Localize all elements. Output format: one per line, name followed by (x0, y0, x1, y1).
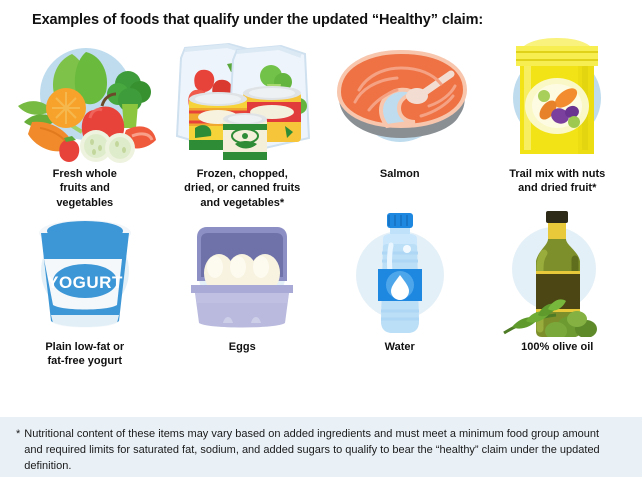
food-cell-water: Water (321, 210, 479, 368)
food-examples-grid: Fresh whole fruits and vegetables (0, 29, 642, 477)
food-row-2: YOGURT Plain low-fat or fat-free yogurt (6, 210, 636, 368)
food-cell-olive-oil: 100% olive oil (479, 210, 637, 368)
food-caption: Frozen, chopped, dried, or canned fruits… (184, 167, 300, 209)
fresh-fruits-vegetables-icon (6, 35, 164, 165)
frozen-canned-fruits-vegetables-icon (164, 35, 322, 165)
eggs-illustration (167, 211, 317, 337)
footnote-text: Nutritional content of these items may v… (24, 427, 620, 475)
yogurt-label-text: YOGURT (47, 273, 123, 292)
fresh-produce-illustration (10, 36, 160, 164)
frozen-canned-illustration (167, 36, 317, 164)
yogurt-tub-icon: YOGURT (6, 210, 164, 338)
footnote-marker: * (16, 427, 20, 443)
food-row-1: Fresh whole fruits and vegetables (6, 35, 636, 209)
olive-oil-bottle-icon (479, 210, 637, 338)
food-cell-fresh-produce: Fresh whole fruits and vegetables (6, 35, 164, 209)
food-cell-eggs: Eggs (164, 210, 322, 368)
salmon-illustration (325, 36, 475, 164)
footnote: * Nutritional content of these items may… (0, 417, 642, 477)
food-caption: Plain low-fat or fat-free yogurt (45, 340, 124, 368)
water-bottle-icon (321, 210, 479, 338)
trail-mix-pouch-icon (479, 35, 637, 165)
page-title: Examples of foods that qualify under the… (0, 0, 642, 29)
food-caption: Fresh whole fruits and vegetables (53, 167, 117, 209)
olive-oil-illustration (482, 211, 632, 337)
egg-carton-icon (164, 210, 322, 338)
trail-mix-illustration (482, 36, 632, 164)
yogurt-illustration: YOGURT (10, 211, 160, 337)
healthy-claim-infographic: Examples of foods that qualify under the… (0, 0, 642, 477)
food-caption: 100% olive oil (521, 340, 593, 354)
food-cell-salmon: Salmon (321, 35, 479, 209)
food-cell-trail-mix: Trail mix with nuts and dried fruit* (479, 35, 637, 209)
food-caption: Salmon (380, 167, 420, 181)
salmon-steak-icon (321, 35, 479, 165)
food-caption: Trail mix with nuts and dried fruit* (509, 167, 605, 195)
food-caption: Eggs (229, 340, 256, 354)
food-cell-frozen-canned: Frozen, chopped, dried, or canned fruits… (164, 35, 322, 209)
water-illustration (325, 211, 475, 337)
food-caption: Water (385, 340, 415, 354)
food-cell-yogurt: YOGURT Plain low-fat or fat-free yogurt (6, 210, 164, 368)
